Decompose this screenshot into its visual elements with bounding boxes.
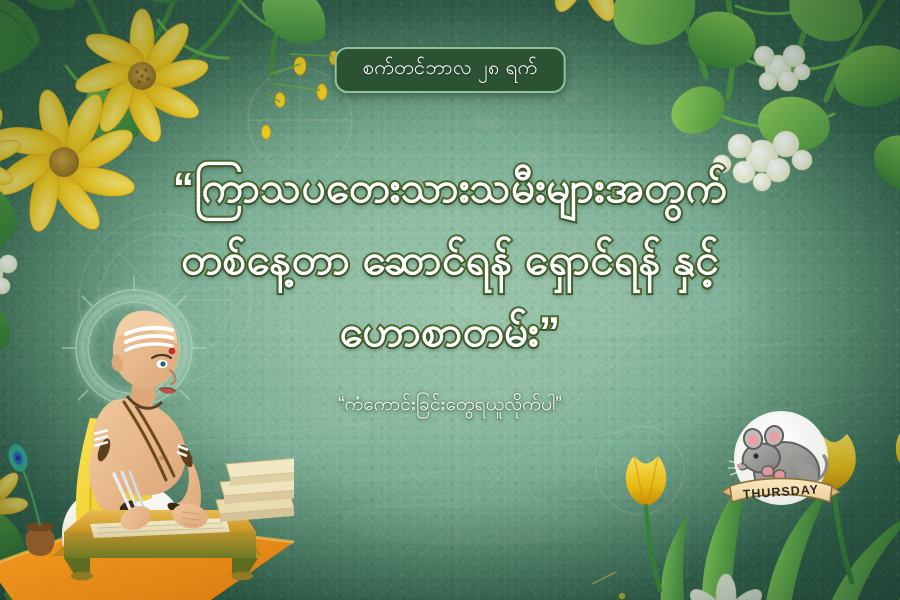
manuscript-stack <box>216 458 294 522</box>
robe <box>76 418 134 538</box>
date-badge-label: စက်တင်ဘာလ ၂၈ ရက် <box>363 57 538 80</box>
stylus <box>114 472 146 518</box>
floor-mat <box>0 520 294 600</box>
svg-text:✦: ✦ <box>176 466 187 481</box>
svg-text:✦: ✦ <box>215 418 226 433</box>
writing-desk <box>52 510 262 581</box>
flower-yellow <box>72 9 211 146</box>
flower-yellow-tulip <box>896 428 900 553</box>
date-badge: စက်တင်ဘာလ ၂၈ ရက် <box>335 47 566 93</box>
dhoti <box>62 482 180 556</box>
pot-with-feather <box>5 442 54 556</box>
hand-right <box>170 501 210 531</box>
thursday-ribbon: THURSDAY <box>722 479 840 503</box>
palm-leaf-sheet <box>90 518 230 538</box>
day-badge: THURSDAY <box>720 406 842 528</box>
svg-text:✧: ✧ <box>268 454 279 469</box>
flower-yellow <box>529 0 662 25</box>
flower-white <box>685 574 767 600</box>
quote-block: “ကြာသပတေးသားသမီးများအတွက် တစ်နေ့တာ ဆောင်… <box>0 152 900 368</box>
arm-left <box>89 438 143 526</box>
quote-line-1: “ကြာသပတေးသားသမီးများအတွက် <box>0 152 900 224</box>
quote-line-2: တစ်နေ့တာ ဆောင်ရန် ရှောင်ရန် နှင့် <box>0 224 900 296</box>
flower-yellow-tulip <box>626 456 666 590</box>
foliage-cluster-bottom-left <box>0 390 290 600</box>
arm-right <box>167 446 201 525</box>
horoscope-poster: ✦ ✧ ✦ <box>0 0 900 600</box>
flower-yellow <box>0 461 29 517</box>
hand-left <box>117 502 155 534</box>
quote-line-3: ဟောစာတမ်း” <box>0 296 900 368</box>
wrist-beads <box>118 498 186 516</box>
armband <box>95 437 195 469</box>
